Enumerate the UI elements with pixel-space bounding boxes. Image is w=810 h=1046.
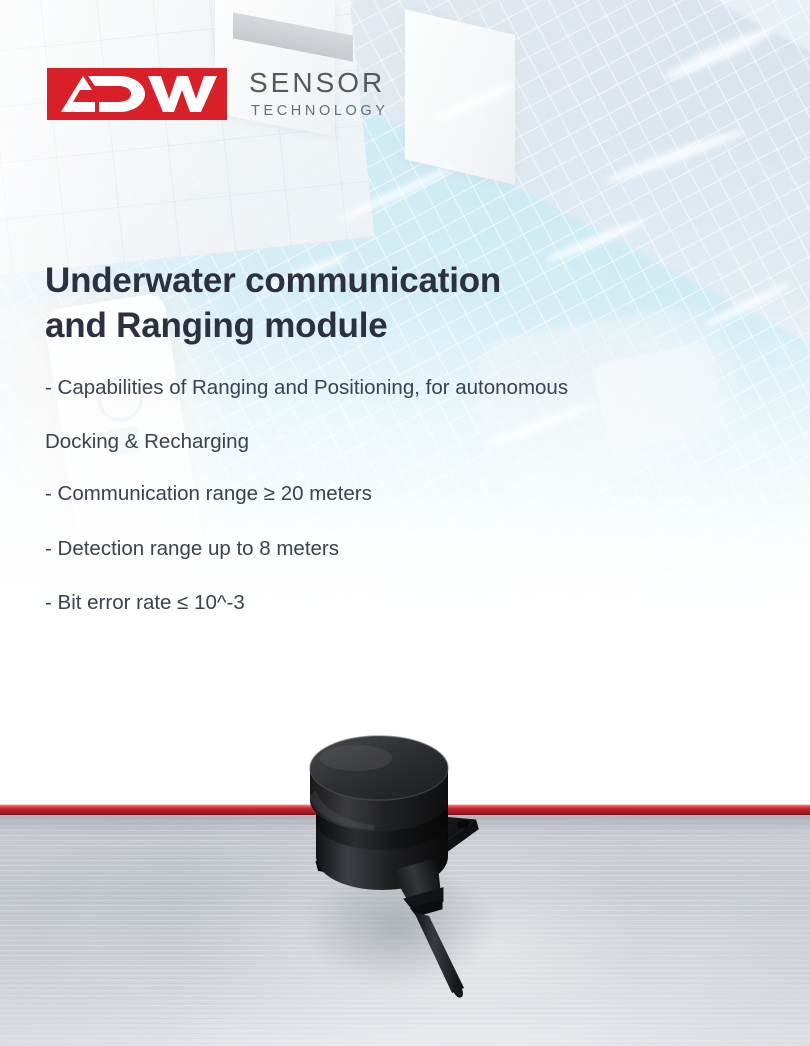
product-cap [310,736,448,831]
brand-wordmark-technology: TECHNOLOGY [251,104,389,119]
brand-logo: SENSOR TECHNOLOGY [47,68,389,120]
page-title: Underwater communication and Ranging mod… [45,259,685,349]
brand-wordmark: SENSOR TECHNOLOGY [249,68,389,119]
marketing-flyer-page: SENSOR TECHNOLOGY Underwater communicati… [0,0,810,1046]
feature-item: - Detection range up to 8 meters [45,536,785,562]
feature-item: - Capabilities of Ranging and Positionin… [45,375,785,401]
product-image [286,716,516,1006]
adw-logo-mark [47,68,227,120]
feature-item: - Communication range ≥ 20 meters [45,481,785,507]
page-title-line-2: and Ranging module [45,304,685,349]
feature-list: - Capabilities of Ranging and Positionin… [45,375,785,644]
brand-wordmark-sensor: SENSOR [249,69,389,97]
feature-item-continuation: Docking & Recharging [45,429,785,455]
page-title-line-1: Underwater communication [45,261,501,300]
product-cable [414,912,465,999]
feature-item: - Bit error rate ≤ 10^-3 [45,590,785,616]
